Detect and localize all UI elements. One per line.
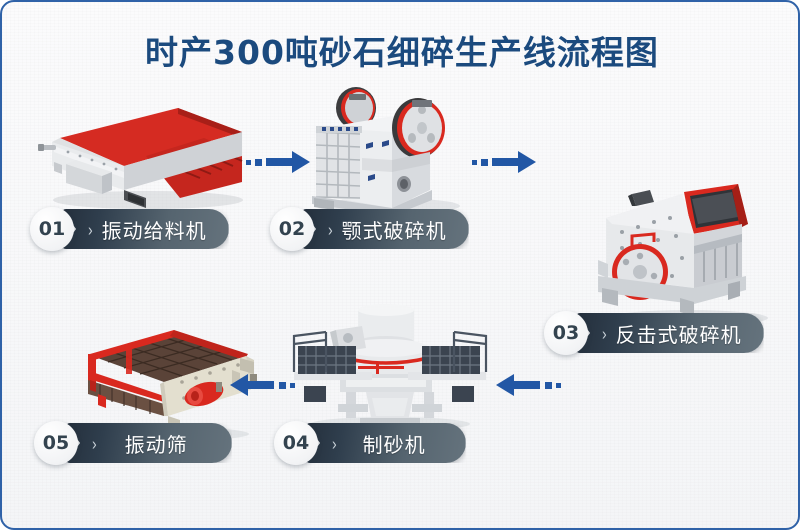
machine-vibrating-feeder <box>28 90 258 210</box>
stage-pill-02: › 颚式破碎机 <box>302 209 469 249</box>
arrow-dash-large <box>481 159 488 166</box>
arrow-dash-small <box>472 160 477 165</box>
arrow-right-icon <box>492 149 536 175</box>
stage-name-05: 振动筛 <box>125 429 188 458</box>
chevron-right-icon: › <box>92 434 97 452</box>
stage-pill-04: › 制砂机 <box>306 423 466 463</box>
arrow-impact-to-sandmaker <box>496 372 561 398</box>
stage-number-badge-03: 03 <box>544 311 588 355</box>
chevron-right-icon: › <box>328 220 333 238</box>
chevron-right-icon: › <box>332 434 337 452</box>
arrow-dash-small <box>556 383 561 388</box>
stage-number-badge-04: 04 <box>274 421 318 465</box>
chevron-right-icon: › <box>602 324 607 342</box>
arrow-left-icon <box>230 372 274 398</box>
stage-label-02[interactable]: 02 › 颚式破碎机 <box>270 208 469 250</box>
arrow-dash-large <box>545 382 552 389</box>
stage-name-04: 制砂机 <box>363 429 426 458</box>
arrow-left-icon <box>496 372 540 398</box>
arrow-jaw-to-impact <box>472 149 536 175</box>
arrow-dash-large <box>255 159 262 166</box>
stage-pill-01: › 振动给料机 <box>62 209 229 249</box>
stage-label-01[interactable]: 01 › 振动给料机 <box>30 208 229 250</box>
stage-name-01: 振动给料机 <box>102 215 207 244</box>
machine-jaw-crusher <box>298 80 473 215</box>
machine-impact-crusher <box>588 172 783 327</box>
stage-label-03[interactable]: 03 › 反击式破碎机 <box>544 312 764 354</box>
arrow-dash-small <box>290 383 295 388</box>
stage-number-badge-02: 02 <box>270 207 314 251</box>
stage-name-03: 反击式破碎机 <box>616 319 742 348</box>
page-title: 时产300吨砂石细碎生产线流程图 <box>2 26 800 74</box>
stage-name-02: 颚式破碎机 <box>342 215 447 244</box>
stage-number-badge-05: 05 <box>34 421 78 465</box>
arrow-feeder-to-jaw <box>246 149 310 175</box>
machine-sand-making-machine <box>280 300 500 432</box>
stage-label-04[interactable]: 04 › 制砂机 <box>274 422 466 464</box>
arrow-dash-small <box>246 160 251 165</box>
arrow-dash-large <box>279 382 286 389</box>
arrow-right-icon <box>266 149 310 175</box>
flowchart-page: 时产300吨砂石细碎生产线流程图 <box>0 0 800 530</box>
stage-label-05[interactable]: 05 › 振动筛 <box>34 422 232 464</box>
stage-pill-05: › 振动筛 <box>66 423 232 463</box>
chevron-right-icon: › <box>88 220 93 238</box>
stage-pill-03: › 反击式破碎机 <box>576 313 764 353</box>
stage-number-badge-01: 01 <box>30 207 74 251</box>
arrow-sandmaker-to-screen <box>230 372 295 398</box>
